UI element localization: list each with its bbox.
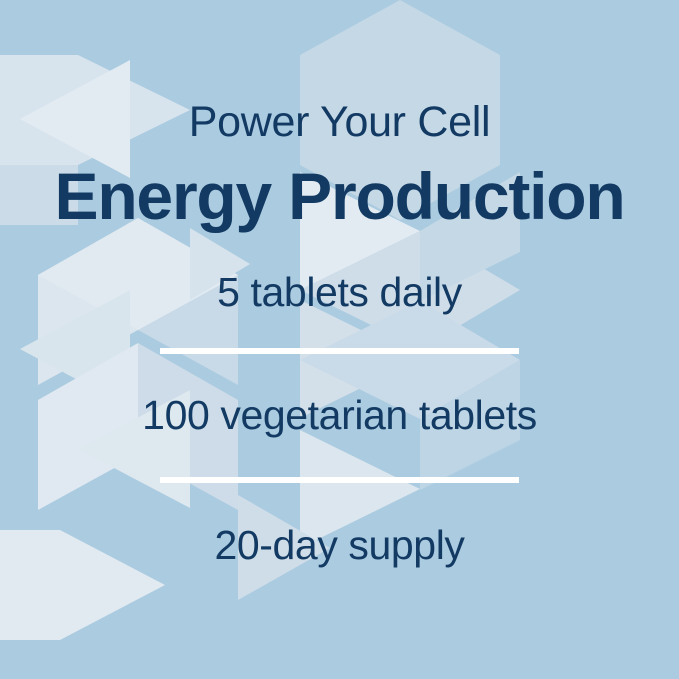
feature-divider-1	[160, 348, 519, 354]
feature-supply: 20-day supply	[0, 525, 679, 566]
product-feature-poster: Power Your Cell Energy Production 5 tabl…	[0, 0, 679, 679]
feature-count: 100 vegetarian tablets	[0, 395, 679, 436]
poster-headline: Energy Production	[0, 163, 679, 229]
feature-divider-2	[160, 477, 519, 483]
poster-content: Power Your Cell Energy Production 5 tabl…	[0, 0, 679, 679]
poster-eyebrow: Power Your Cell	[0, 101, 679, 144]
feature-dosage: 5 tablets daily	[0, 272, 679, 313]
